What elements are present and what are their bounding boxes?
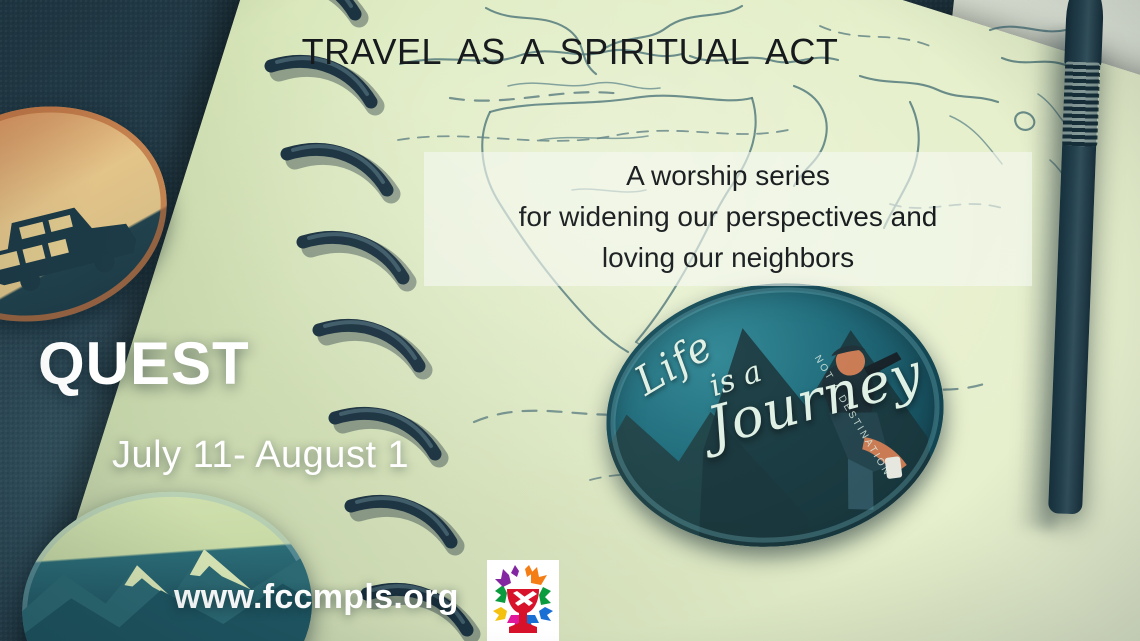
badge-text-block: Life is a Journey NOT A DESTINATION www.… — [591, 264, 958, 565]
poster-canvas: EX Life is a Journey NOT A DESTINATION w… — [0, 0, 1140, 641]
website-url[interactable]: www.fccmpls.org — [174, 578, 459, 617]
mountain-range-icon — [16, 501, 315, 641]
subtitle-line-1: A worship series — [424, 155, 1032, 196]
event-dates: July 11- August 1 — [112, 434, 409, 477]
series-name-heading: Quest — [38, 312, 250, 398]
subtitle-line-2: for widening our perspectives and — [424, 196, 1032, 237]
subtitle-line-3: loving our neighbors — [424, 237, 1032, 278]
life-is-a-journey-badge: Life is a Journey NOT A DESTINATION www.… — [591, 264, 958, 565]
badge-word-life: Life — [627, 323, 721, 405]
page-title: Travel as a Spiritual Act — [0, 17, 1140, 76]
ucc-chalice-logo — [487, 560, 559, 641]
subtitle-block: A worship series for widening our perspe… — [424, 155, 1032, 278]
